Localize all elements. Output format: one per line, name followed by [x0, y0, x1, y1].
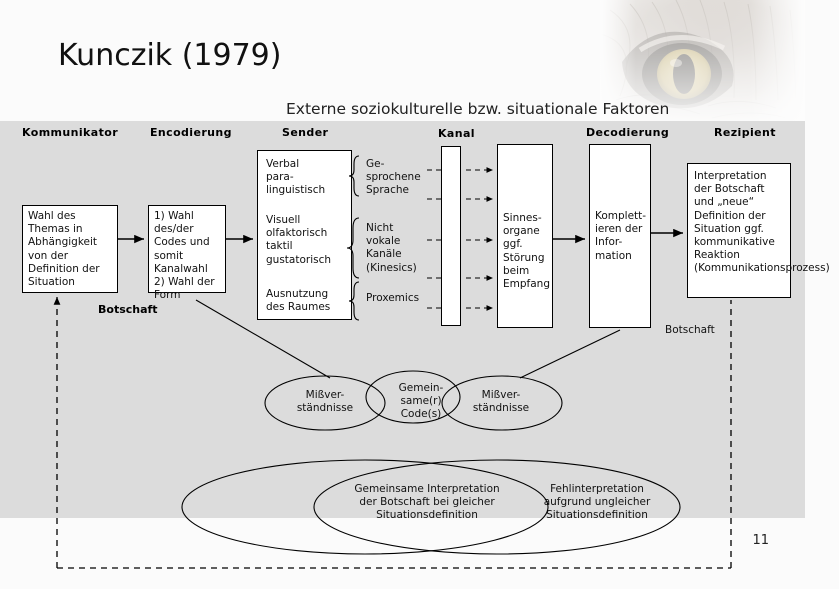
label-botschaft-left: Botschaft — [98, 303, 158, 316]
slide-canvas: Kunczik (1979) Externe soziokulturelle b… — [0, 0, 839, 589]
box-empfang: Sinnes- organe ggf. Störung beim Empfang — [497, 144, 553, 328]
column-header-sender: Sender — [282, 126, 328, 139]
label-botschaft-right: Botschaft — [665, 324, 715, 336]
box-rezipient: Interpretation der Botschaft und „neue“ … — [687, 163, 791, 298]
ellipse-label-missverstaendnisse-right: Mißver- ständnisse — [464, 389, 538, 415]
ellipse-label-missverstaendnisse-left: Mißver- ständnisse — [288, 389, 362, 415]
column-header-rezipient: Rezipient — [714, 126, 776, 139]
box-encodierung: 1) Wahl des/der Codes und somit Kanalwah… — [148, 205, 226, 293]
page-number: 11 — [752, 533, 769, 548]
channel-group-nichtvokale-kanaele: Nicht vokale Kanäle (Kinesics) — [366, 222, 428, 275]
ellipse-label-fehlinterpretation: Fehlinterpretation aufgrund ungleicher S… — [524, 483, 670, 523]
channel-group-proxemics: Proxemics — [366, 292, 428, 305]
page-title: Kunczik (1979) — [58, 38, 281, 73]
ellipse-label-gemeinsame-interpretation: Gemeinsame Interpretation der Botschaft … — [337, 483, 517, 523]
column-header-decodierung: Decodierung — [586, 126, 669, 139]
column-header-kanal: Kanal — [438, 127, 475, 140]
sender-item-visuell: Visuell olfaktorisch taktil gustatorisch — [266, 214, 350, 267]
sender-item-raum: Ausnutzung des Raumes — [266, 288, 350, 314]
column-header-kommunikator: Kommunikator — [22, 126, 118, 139]
external-factors-label: Externe soziokulturelle bzw. situational… — [286, 100, 669, 118]
sender-item-verbal: Verbal para- linguistisch — [266, 158, 350, 198]
box-kanal — [441, 146, 461, 326]
column-header-encodierung: Encodierung — [150, 126, 232, 139]
ellipse-label-gemeinsame-codes: Gemein- same(r) Code(s) — [388, 382, 454, 422]
box-kommunikator: Wahl des Themas in Abhängigkeit von der … — [22, 205, 118, 293]
channel-group-gesprochene-sprache: Ge- sprochene Sprache — [366, 158, 424, 198]
box-decodierung: Komplett- ieren der Infor- mation — [589, 144, 651, 328]
